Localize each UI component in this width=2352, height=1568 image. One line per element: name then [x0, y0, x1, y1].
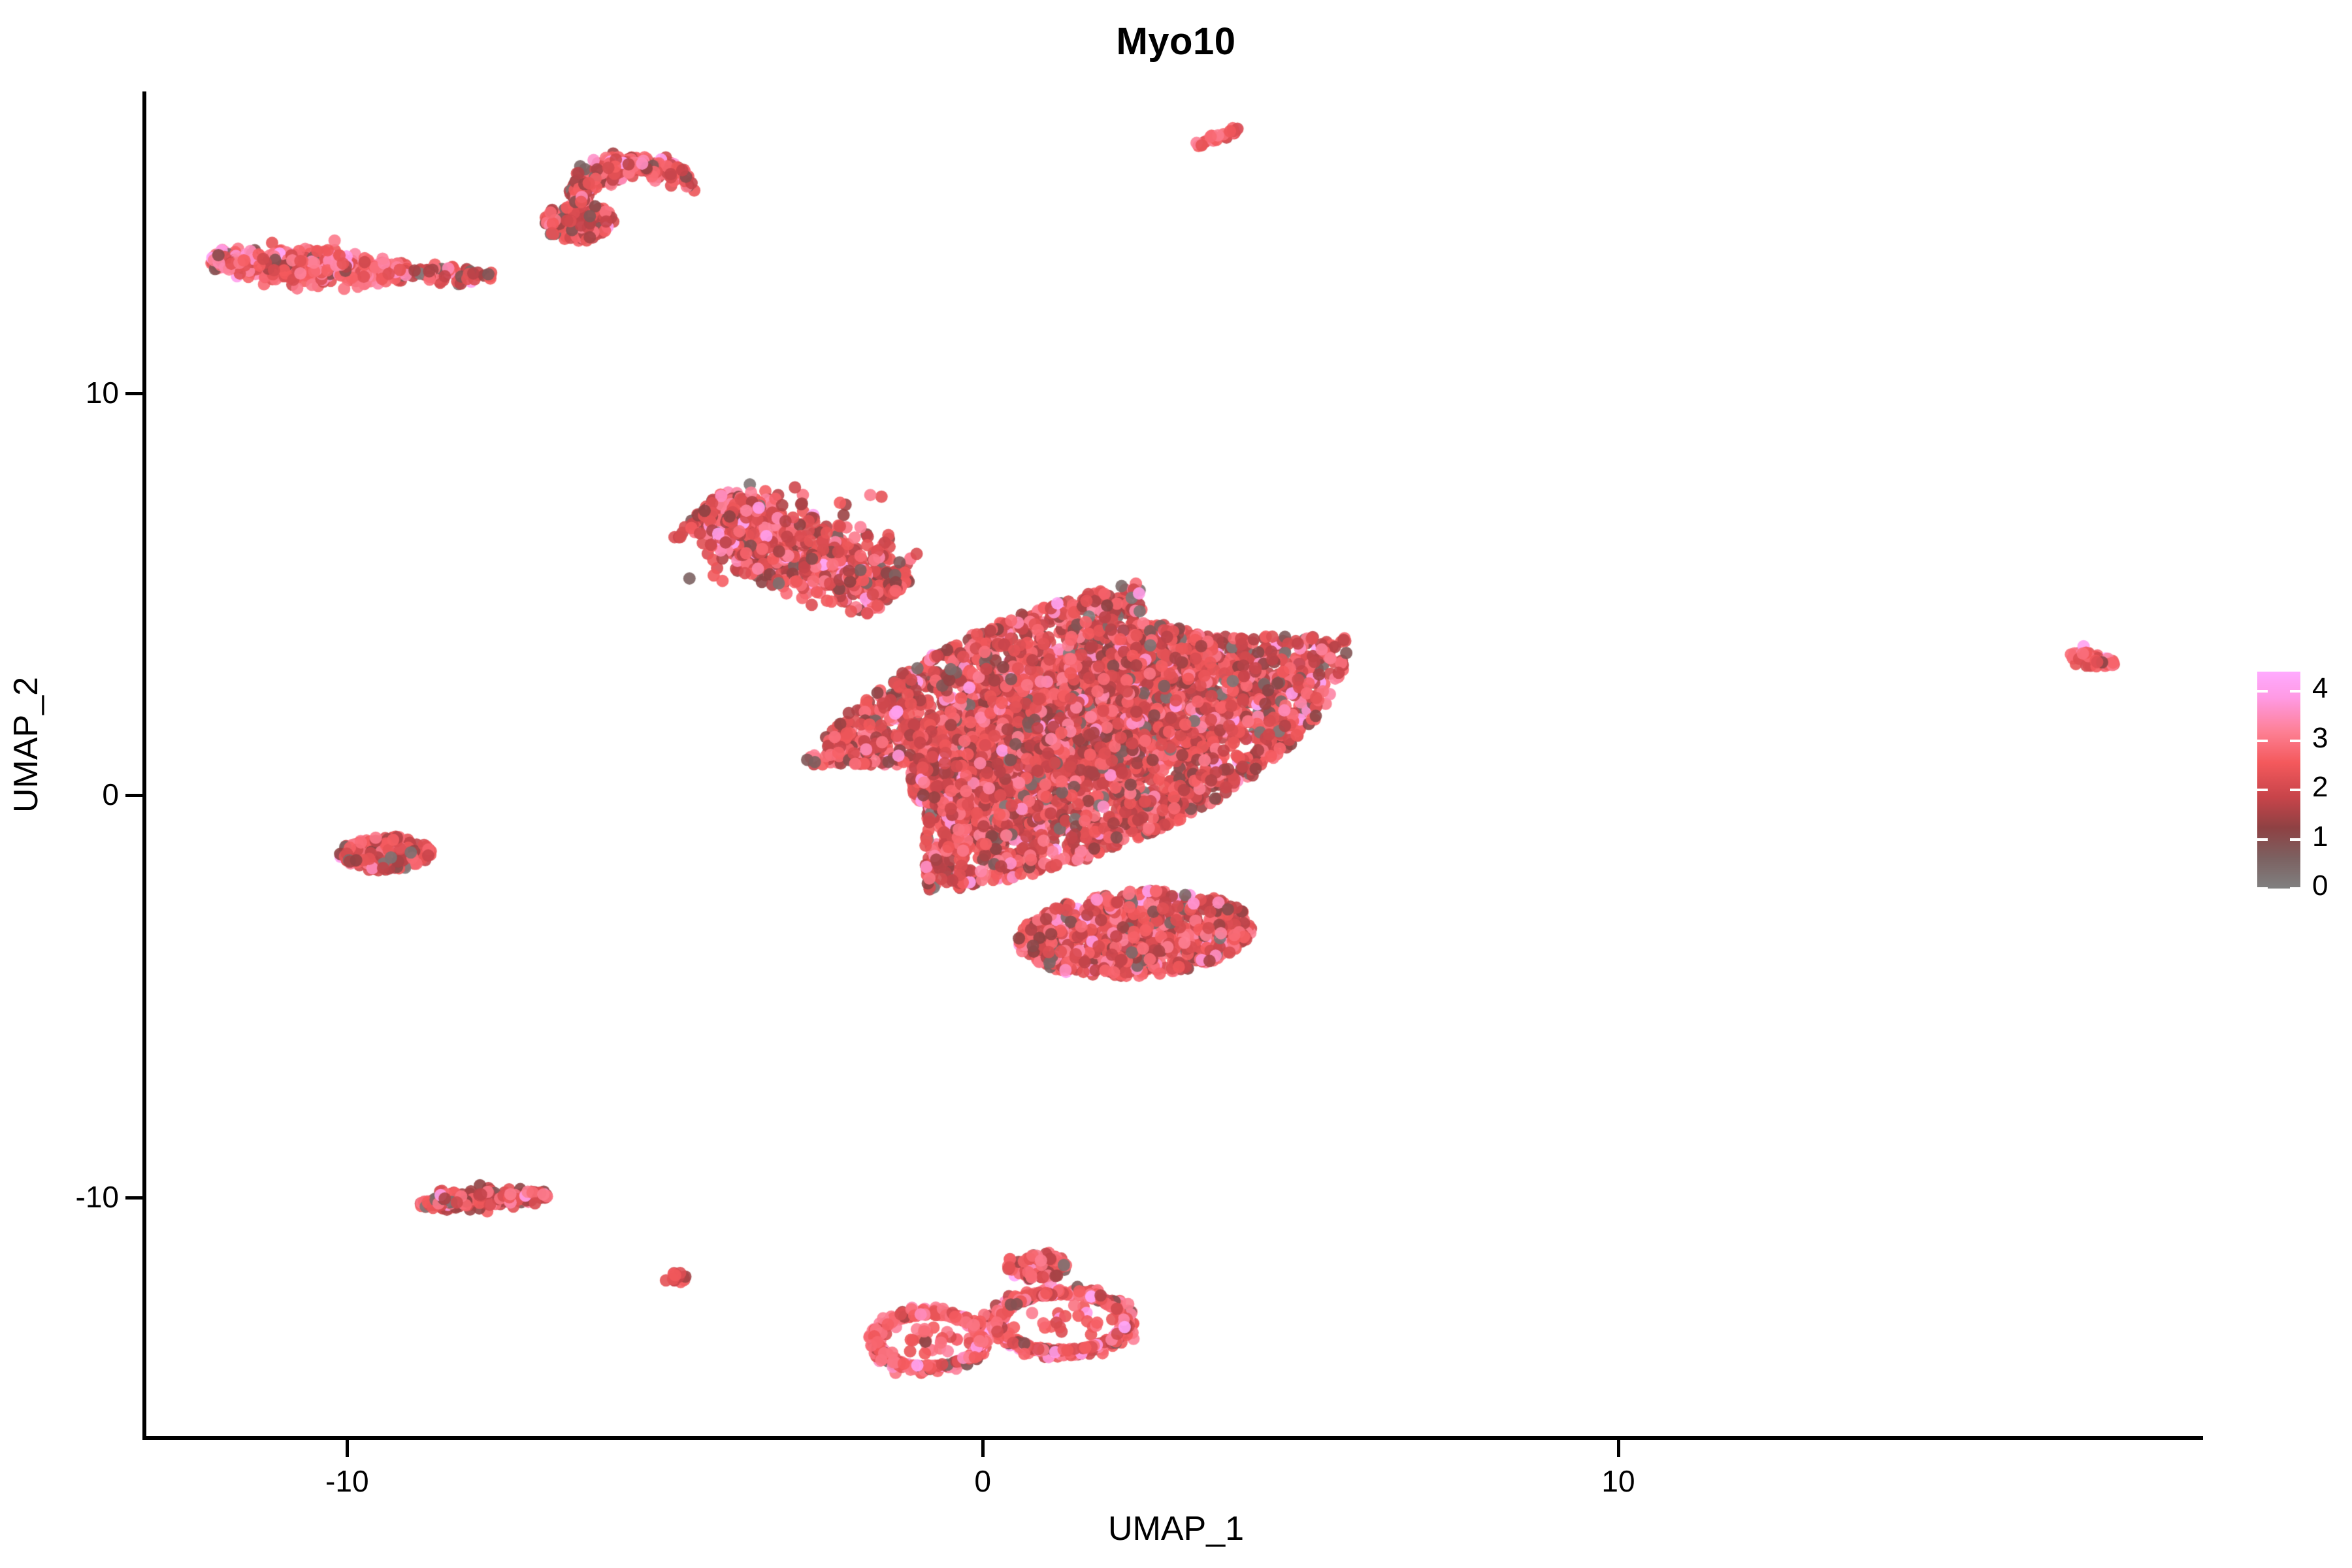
y-tick-label: 0: [102, 777, 119, 812]
y-axis-line: [142, 91, 146, 1440]
legend-tick-mark: [2257, 887, 2268, 890]
legend-colorbar: [2257, 672, 2300, 889]
legend-tick-label: 4: [2312, 674, 2328, 703]
legend-tick-mark: [2290, 838, 2300, 841]
x-tick-label: -10: [282, 1463, 412, 1499]
legend-tick-mark: [2290, 789, 2300, 791]
legend-tick-label: 2: [2312, 773, 2328, 802]
page-title: Myo10: [0, 20, 2352, 63]
x-tick-mark: [981, 1440, 985, 1457]
y-tick-label: -10: [76, 1179, 119, 1215]
x-axis-line: [142, 1436, 2203, 1440]
x-tick-label: 0: [917, 1463, 1048, 1499]
y-tick-mark: [125, 794, 142, 797]
legend-tick-mark: [2257, 740, 2268, 742]
legend-tick-label: 0: [2312, 872, 2328, 900]
legend-tick-mark: [2290, 690, 2300, 693]
legend-tick-mark: [2290, 887, 2300, 890]
legend-tick-label: 3: [2312, 724, 2328, 753]
legend-tick-mark: [2257, 789, 2268, 791]
legend-tick-label: 1: [2312, 823, 2328, 851]
legend-tick-mark: [2257, 690, 2268, 693]
color-legend: 43210: [2257, 672, 2300, 889]
x-tick-mark: [346, 1440, 349, 1457]
y-tick-mark: [125, 1196, 142, 1200]
x-axis-title: UMAP_1: [0, 1509, 2352, 1548]
umap-feature-plot: Myo10 100-10 -10010 UMAP_1 UMAP_2 43210: [0, 0, 2352, 1568]
y-tick-label: 10: [86, 375, 119, 410]
x-tick-label: 10: [1553, 1463, 1684, 1499]
y-tick-mark: [125, 392, 142, 395]
legend-tick-mark: [2290, 740, 2300, 742]
scatter-canvas: [144, 91, 2203, 1439]
legend-tick-mark: [2257, 838, 2268, 841]
x-tick-mark: [1617, 1440, 1620, 1457]
y-axis-title: UMAP_2: [7, 549, 46, 941]
